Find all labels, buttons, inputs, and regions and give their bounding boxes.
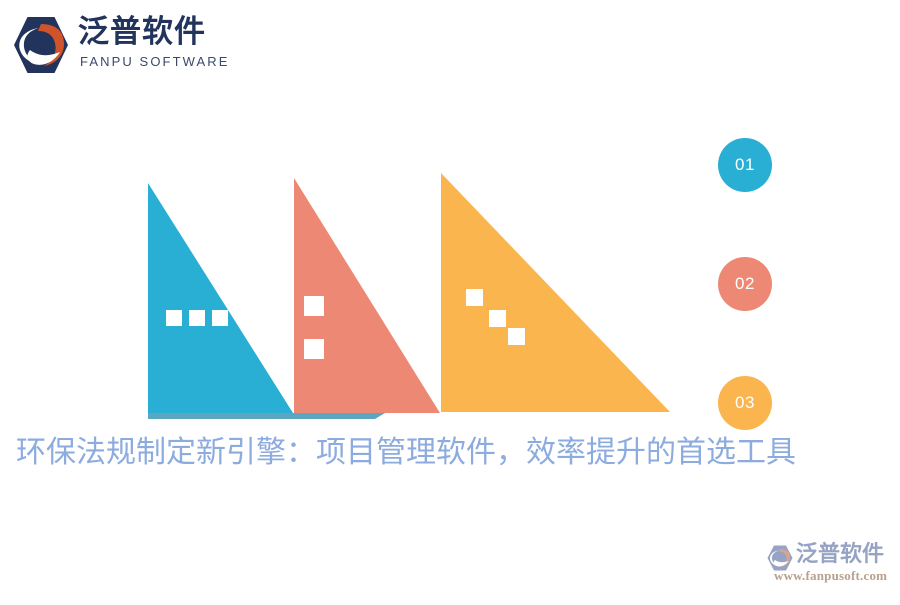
brand-name-en: FANPU SOFTWARE <box>80 54 230 70</box>
brand-logo: 泛普软件 FANPU SOFTWARE <box>10 12 240 80</box>
step-circle-03-label: 03 <box>735 393 755 413</box>
graphic-shadow-strip <box>148 413 385 419</box>
brand-name-cn: 泛普软件 <box>78 14 206 50</box>
step-circle-01[interactable]: 01 <box>718 138 772 192</box>
watermark-name: 泛普软件 <box>796 540 884 568</box>
watermark: 泛普软件 www.fanpusoft.com <box>766 538 896 588</box>
triangle-3-yellow <box>441 173 670 412</box>
step-circle-01-label: 01 <box>735 155 755 175</box>
brand-text-block: 泛普软件 FANPU SOFTWARE <box>78 12 240 78</box>
watermark-url: www.fanpusoft.com <box>774 568 887 584</box>
fanpu-hexagon-logo-icon <box>10 14 72 76</box>
step-circle-03[interactable]: 03 <box>718 376 772 430</box>
page-title: 环保法规制定新引擎：项目管理软件，效率提升的首选工具 <box>16 430 892 476</box>
slide-canvas: 泛普软件 FANPU SOFTWARE <box>0 0 900 600</box>
triangle-1-blue <box>148 183 293 413</box>
step-circle-02-label: 02 <box>735 274 755 294</box>
step-circle-02[interactable]: 02 <box>718 257 772 311</box>
triangle-2-salmon <box>294 178 440 413</box>
